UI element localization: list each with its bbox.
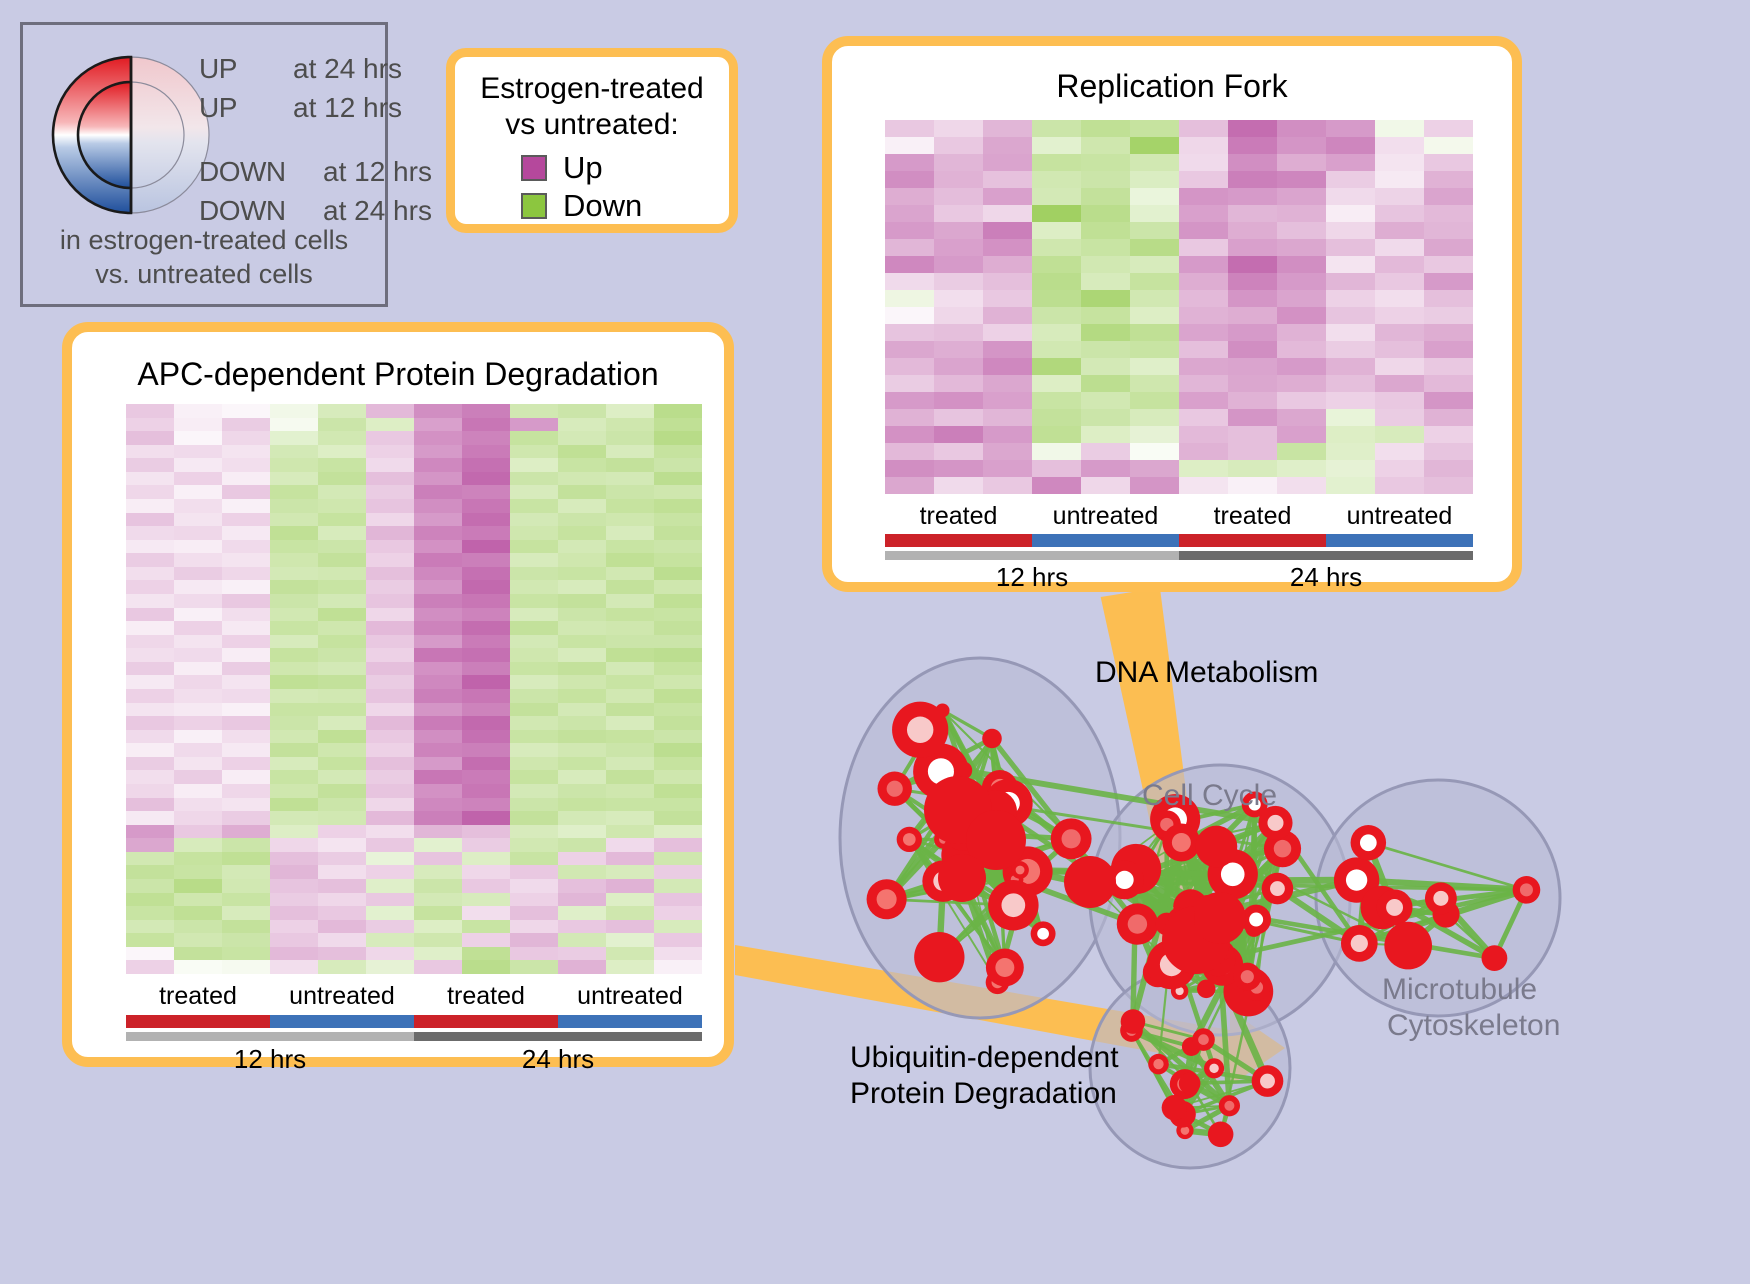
network-node-core [1267, 815, 1283, 831]
heatmap-cell [222, 567, 270, 581]
heatmap-cell [270, 906, 318, 920]
heatmap-cell [606, 784, 654, 798]
heatmap-cell [1424, 239, 1473, 256]
heatmap-cell [885, 375, 934, 392]
network-node [1064, 856, 1116, 908]
heatmap-cell [1326, 137, 1375, 154]
heatmap-cell [1081, 358, 1130, 375]
heatmap-cell [270, 838, 318, 852]
heatmap-cell [606, 838, 654, 852]
heatmap-cell [1228, 120, 1277, 137]
heatmap-cell [983, 290, 1032, 307]
heatmap-cell [414, 445, 462, 459]
heatmap-cell [222, 865, 270, 879]
panel-replication-fork-title: Replication Fork [832, 68, 1512, 105]
heatmap-cell [174, 716, 222, 730]
heatmap-cell [270, 567, 318, 581]
group-label-treated-12: treated [885, 502, 1032, 531]
heatmap-cell [654, 703, 702, 717]
heatmap-cell [1228, 358, 1277, 375]
group-label-untreated-24: untreated [1326, 502, 1473, 531]
heatmap-cell [222, 621, 270, 635]
network-node-core [1274, 840, 1291, 857]
heatmap-cell [1179, 120, 1228, 137]
heatmap-cell [270, 662, 318, 676]
heatmap-cell [1375, 392, 1424, 409]
heatmap-cell [126, 784, 174, 798]
heatmap-cell [318, 893, 366, 907]
heatmap-replication-fork [885, 120, 1473, 494]
heatmap-cell [1277, 460, 1326, 477]
heatmap-cell [414, 784, 462, 798]
heatmap-cell [414, 485, 462, 499]
heatmap-cell [270, 703, 318, 717]
network-node-core [1224, 1101, 1234, 1111]
heatmap-cell [366, 675, 414, 689]
panel-apc-dependent: APC-dependent Protein Degradation treate… [62, 322, 734, 1067]
heatmap-cell [1081, 222, 1130, 239]
heatmap-cell [1130, 375, 1179, 392]
heatmap-cell [174, 757, 222, 771]
heatmap-cell [885, 477, 934, 494]
heatmap-cell [1277, 426, 1326, 443]
heatmap-cell [462, 648, 510, 662]
heatmap-cell [1326, 307, 1375, 324]
heatmap-cell [1326, 341, 1375, 358]
heatmap-cell [1130, 273, 1179, 290]
heatmap-cell [366, 893, 414, 907]
heatmap-cell [1179, 477, 1228, 494]
heatmap-cell [558, 553, 606, 567]
heatmap-cell [462, 621, 510, 635]
heatmap-cell [1277, 477, 1326, 494]
heatmap-cell [1130, 188, 1179, 205]
network-node [1196, 826, 1238, 868]
heatmap-cell [654, 757, 702, 771]
heatmap-cell [126, 852, 174, 866]
heatmap-cell [222, 594, 270, 608]
heatmap-cell [366, 689, 414, 703]
heatmap-cell [318, 445, 366, 459]
heatmap-cell [654, 580, 702, 594]
heatmap-cell [270, 743, 318, 757]
heatmap-cell [606, 960, 654, 974]
heatmap-cell [558, 920, 606, 934]
heatmap-cell [1424, 392, 1473, 409]
heatmap-cell [1375, 188, 1424, 205]
heatmap-cell [1228, 375, 1277, 392]
heatmap-cell [1032, 443, 1081, 460]
heatmap-cell [1424, 460, 1473, 477]
heatmap-cell [414, 594, 462, 608]
heatmap-cell [1424, 375, 1473, 392]
updown-legend-box: Estrogen-treated vs untreated: Up Down [446, 48, 738, 233]
heatmap-cell [174, 675, 222, 689]
apc-group-label-untreated-24: untreated [558, 982, 702, 1011]
heatmap-cell [1424, 205, 1473, 222]
heatmap-cell [606, 703, 654, 717]
heatmap-cell [1277, 137, 1326, 154]
heatmap-cell [1375, 239, 1424, 256]
heatmap-cell [558, 689, 606, 703]
heatmap-cell [366, 540, 414, 554]
heatmap-cell [126, 635, 174, 649]
heatmap-cell [983, 358, 1032, 375]
heatmap-cell [462, 499, 510, 513]
heatmap-cell [414, 458, 462, 472]
heatmap-cell [126, 906, 174, 920]
heatmap-cell [1326, 324, 1375, 341]
heatmap-cell [885, 290, 934, 307]
heatmap-cell [1326, 154, 1375, 171]
heatmap-cell [270, 893, 318, 907]
heatmap-cell [366, 757, 414, 771]
heatmap-cell [1228, 222, 1277, 239]
heatmap-cell [126, 458, 174, 472]
heatmap-cell [1032, 256, 1081, 273]
heatmap-cell [558, 770, 606, 784]
cluster-label-cell-cycle: Cell Cycle [1142, 778, 1277, 814]
heatmap-cell [126, 567, 174, 581]
heatmap-cell [1277, 358, 1326, 375]
axis-apc: treated untreated treated untreated 12 h… [126, 982, 702, 1077]
heatmap-cell [414, 540, 462, 554]
heatmap-cell [462, 567, 510, 581]
heatmap-cell [1130, 256, 1179, 273]
heatmap-cell [366, 594, 414, 608]
heatmap-cell [318, 553, 366, 567]
heatmap-cell [222, 960, 270, 974]
heatmap-cell [885, 307, 934, 324]
heatmap-cell [934, 256, 983, 273]
heatmap-cell [414, 947, 462, 961]
heatmap-cell [1081, 205, 1130, 222]
heatmap-cell [414, 580, 462, 594]
heatmap-cell [270, 770, 318, 784]
heatmap-cell [366, 852, 414, 866]
heatmap-cell [885, 409, 934, 426]
heatmap-cell [126, 594, 174, 608]
heatmap-cell [318, 675, 366, 689]
heatmap-cell [606, 567, 654, 581]
heatmap-cell [318, 879, 366, 893]
heatmap-cell [174, 540, 222, 554]
heatmap-cell [654, 445, 702, 459]
heatmap-cell [318, 838, 366, 852]
heatmap-cell [510, 716, 558, 730]
heatmap-cell [174, 499, 222, 513]
heatmap-cell [414, 418, 462, 432]
heatmap-cell [1081, 341, 1130, 358]
heatmap-cell [885, 358, 934, 375]
heatmap-cell [174, 798, 222, 812]
heatmap-cell [126, 730, 174, 744]
heatmap-cell [1424, 477, 1473, 494]
heatmap-cell [510, 418, 558, 432]
heatmap-cell [934, 392, 983, 409]
heatmap-cell [558, 594, 606, 608]
heatmap-cell [366, 635, 414, 649]
heatmap-cell [558, 431, 606, 445]
heatmap-cell [126, 472, 174, 486]
heatmap-cell [1179, 137, 1228, 154]
updown-legend-title-line1: Estrogen-treated [455, 71, 729, 107]
heatmap-cell [654, 635, 702, 649]
heatmap-cell [1228, 205, 1277, 222]
heatmap-cell [934, 171, 983, 188]
heatmap-cell [462, 526, 510, 540]
heatmap-cell [558, 404, 606, 418]
heatmap-cell [318, 865, 366, 879]
heatmap-cell [270, 825, 318, 839]
heatmap-cell [414, 689, 462, 703]
heatmap-cell [462, 960, 510, 974]
heatmap-cell [1228, 477, 1277, 494]
heatmap-cell [414, 920, 462, 934]
heatmap-cell [366, 485, 414, 499]
heatmap-cell [654, 730, 702, 744]
heatmap-cell [983, 256, 1032, 273]
heatmap-cell [270, 920, 318, 934]
heatmap-cell [1375, 154, 1424, 171]
network-node-core [1260, 1074, 1275, 1089]
heatmap-cell [1130, 409, 1179, 426]
heatmap-cell [983, 239, 1032, 256]
cluster-label-ubiquitin-line2: Protein Degradation [850, 1076, 1117, 1112]
heatmap-cell [558, 567, 606, 581]
heatmap-cell [1424, 188, 1473, 205]
heatmap-cell [1081, 375, 1130, 392]
heatmap-cell [606, 404, 654, 418]
heatmap-cell [510, 947, 558, 961]
heatmap-cell [885, 154, 934, 171]
heatmap-cell [414, 906, 462, 920]
heatmap-cell [1081, 477, 1130, 494]
heatmap-cell [558, 743, 606, 757]
heatmap-cell [606, 879, 654, 893]
network-node [1208, 1121, 1234, 1147]
network-node-core [1351, 935, 1368, 952]
heatmap-cell [174, 689, 222, 703]
heatmap-cell [318, 608, 366, 622]
heatmap-cell [934, 341, 983, 358]
heatmap-cell [1228, 188, 1277, 205]
network-node-core [1520, 883, 1533, 896]
panel-apc-title: APC-dependent Protein Degradation [72, 356, 724, 393]
heatmap-cell [885, 460, 934, 477]
network-node-core [1062, 829, 1081, 848]
heatmap-cell [934, 375, 983, 392]
heatmap-cell [983, 477, 1032, 494]
heatmap-cell [606, 580, 654, 594]
heatmap-cell [1228, 341, 1277, 358]
heatmap-cell [222, 920, 270, 934]
heatmap-cell [174, 635, 222, 649]
heatmap-cell [606, 540, 654, 554]
heatmap-cell [934, 324, 983, 341]
heatmap-cell [510, 920, 558, 934]
cluster-label-microtubule-line2: Cytoskeleton [1387, 1008, 1560, 1044]
heatmap-cell [366, 458, 414, 472]
heatmap-cell [414, 933, 462, 947]
gradient-legend-footer: in estrogen-treated cells vs. untreated … [23, 223, 385, 291]
heatmap-cell [1130, 341, 1179, 358]
heatmap-cell [558, 716, 606, 730]
heatmap-cell [606, 933, 654, 947]
heatmap-cell [1179, 460, 1228, 477]
heatmap-cell [510, 960, 558, 974]
heatmap-cell [558, 811, 606, 825]
heatmap-cell [510, 608, 558, 622]
heatmap-cell [1179, 290, 1228, 307]
heatmap-cell [654, 485, 702, 499]
heatmap-cell [174, 893, 222, 907]
heatmap-cell [1081, 256, 1130, 273]
heatmap-cell [510, 798, 558, 812]
heatmap-cell [1326, 239, 1375, 256]
network-node [982, 729, 1002, 749]
heatmap-cell [558, 838, 606, 852]
heatmap-cell [654, 540, 702, 554]
heatmap-cell [1424, 273, 1473, 290]
heatmap-cell [510, 485, 558, 499]
heatmap-cell [558, 906, 606, 920]
heatmap-cell [606, 594, 654, 608]
heatmap-cell [126, 770, 174, 784]
heatmap-cell [606, 458, 654, 472]
legend-ring-label-down-12: DOWN [199, 156, 286, 188]
heatmap-cell [1032, 239, 1081, 256]
heatmap-cell [606, 757, 654, 771]
heatmap-cell [318, 458, 366, 472]
network-node-core [1115, 871, 1133, 889]
heatmap-cell [462, 418, 510, 432]
heatmap-cell [462, 770, 510, 784]
heatmap-cell [126, 485, 174, 499]
heatmap-cell [174, 526, 222, 540]
heatmap-cell [1375, 358, 1424, 375]
heatmap-cell [318, 852, 366, 866]
heatmap-cell [414, 621, 462, 635]
heatmap-cell [654, 594, 702, 608]
heatmap-cell [414, 852, 462, 866]
heatmap-cell [934, 426, 983, 443]
heatmap-cell [510, 513, 558, 527]
heatmap-cell [558, 540, 606, 554]
heatmap-cell [366, 906, 414, 920]
heatmap-cell [414, 648, 462, 662]
group-label-untreated-12: untreated [1032, 502, 1179, 531]
heatmap-cell [1375, 120, 1424, 137]
heatmap-cell [1424, 443, 1473, 460]
heatmap-cell [983, 375, 1032, 392]
heatmap-cell [270, 730, 318, 744]
heatmap-cell [1130, 460, 1179, 477]
heatmap-cell [462, 933, 510, 947]
heatmap-cell [1277, 341, 1326, 358]
heatmap-cell [1375, 477, 1424, 494]
heatmap-cell [462, 445, 510, 459]
heatmap-cell [126, 404, 174, 418]
heatmap-cell [510, 635, 558, 649]
heatmap-cell [174, 703, 222, 717]
heatmap-cell [462, 947, 510, 961]
network-node-core [1209, 1064, 1218, 1073]
heatmap-cell [1326, 460, 1375, 477]
heatmap-cell [126, 580, 174, 594]
heatmap-cell [1179, 409, 1228, 426]
heatmap-cell [885, 341, 934, 358]
group-bar-untreated-24 [1326, 534, 1473, 547]
heatmap-cell [366, 784, 414, 798]
heatmap-cell [510, 675, 558, 689]
heatmap-cell [1277, 375, 1326, 392]
heatmap-cell [1277, 256, 1326, 273]
heatmap-cell [654, 621, 702, 635]
heatmap-cell [126, 499, 174, 513]
network-node-core [1001, 893, 1025, 917]
heatmap-cell [510, 404, 558, 418]
heatmap-cell [1179, 307, 1228, 324]
heatmap-cell [222, 662, 270, 676]
heatmap-cell [1424, 358, 1473, 375]
heatmap-cell [1424, 256, 1473, 273]
heatmap-cell [222, 947, 270, 961]
heatmap-cell [1424, 290, 1473, 307]
heatmap-cell [654, 798, 702, 812]
legend-ring-time-down-12: at 12 hrs [323, 156, 432, 188]
heatmap-cell [510, 580, 558, 594]
heatmap-cell [558, 662, 606, 676]
heatmap-cell [510, 689, 558, 703]
heatmap-cell [558, 648, 606, 662]
heatmap-cell [1228, 256, 1277, 273]
heatmap-cell [558, 418, 606, 432]
heatmap-cell [1326, 222, 1375, 239]
heatmap-cell [462, 743, 510, 757]
heatmap-cell [1375, 426, 1424, 443]
heatmap-cell [1130, 239, 1179, 256]
heatmap-cell [366, 838, 414, 852]
heatmap-cell [1130, 137, 1179, 154]
heatmap-cell [934, 409, 983, 426]
heatmap-cell [414, 730, 462, 744]
heatmap-cell [126, 703, 174, 717]
heatmap-cell [414, 716, 462, 730]
heatmap-cell [270, 404, 318, 418]
heatmap-cell [222, 499, 270, 513]
heatmap-cell [318, 513, 366, 527]
network-node-core [1221, 862, 1245, 886]
heatmap-cell [270, 526, 318, 540]
network-node [1384, 922, 1432, 970]
heatmap-cell [1081, 188, 1130, 205]
heatmap-cell [270, 431, 318, 445]
heatmap-cell [462, 757, 510, 771]
heatmap-cell [983, 307, 1032, 324]
heatmap-cell [222, 553, 270, 567]
heatmap-cell [1032, 290, 1081, 307]
heatmap-cell [174, 567, 222, 581]
heatmap-cell [1081, 120, 1130, 137]
heatmap-cell [885, 171, 934, 188]
network-node-core [1433, 891, 1448, 906]
heatmap-cell [1179, 358, 1228, 375]
heatmap-cell [1228, 324, 1277, 341]
heatmap-cell [654, 662, 702, 676]
heatmap-cell [934, 188, 983, 205]
heatmap-cell [318, 960, 366, 974]
